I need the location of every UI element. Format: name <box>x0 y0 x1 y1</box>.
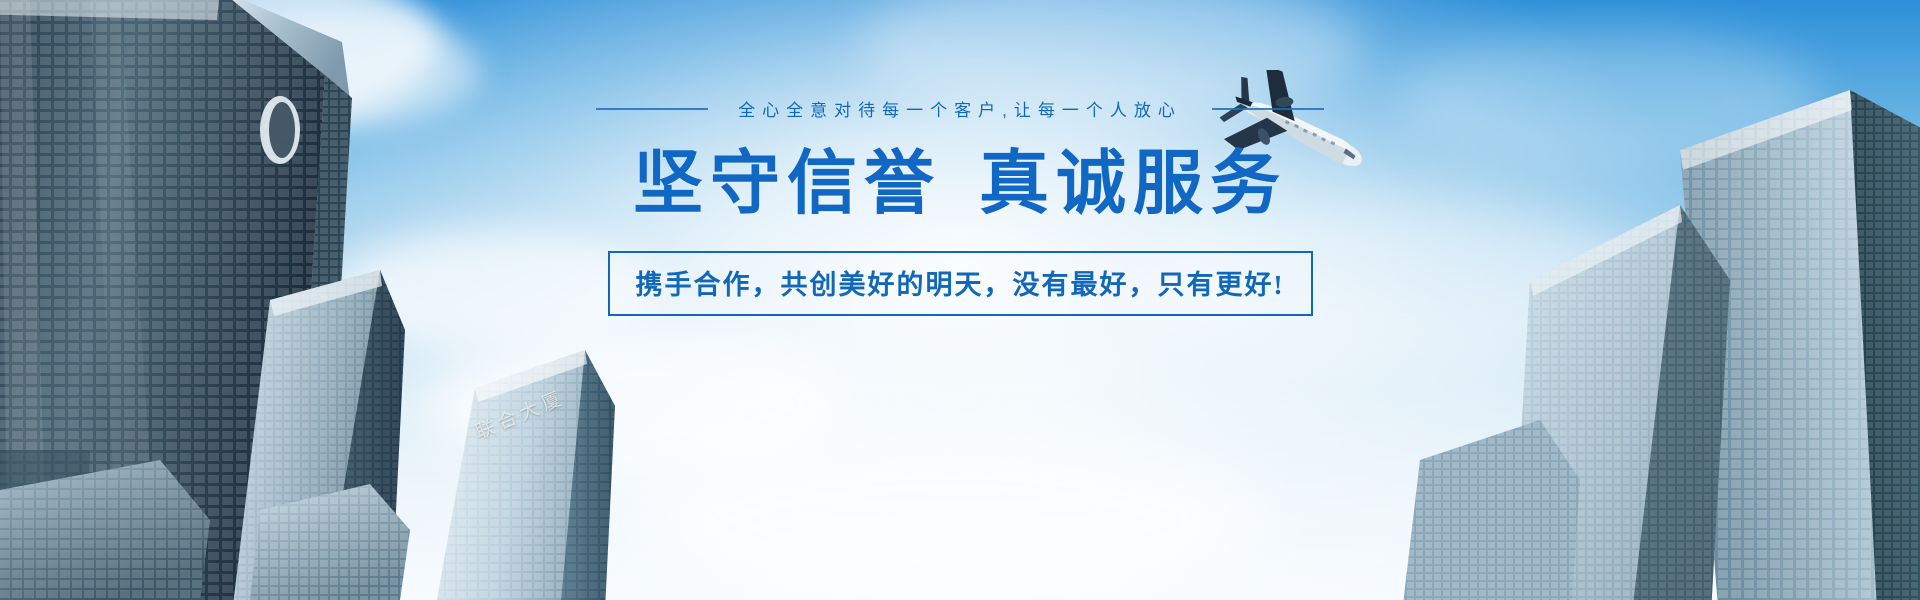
decorative-rule-right-icon <box>1212 108 1324 110</box>
cloud <box>640 430 1260 600</box>
headline-part-left: 坚守信誉 <box>633 146 941 223</box>
hero-banner: 联合大厦 <box>0 0 1920 600</box>
sky-glow <box>210 0 1710 600</box>
cloud <box>20 0 440 130</box>
cloud <box>1400 30 1820 170</box>
cloud <box>330 230 660 350</box>
banner-text-content: 全心全意对待每一个客户,让每一个人放心 坚守信誉真诚服务 携手合作，共创美好的明… <box>0 96 1920 316</box>
cloud <box>430 330 850 480</box>
headline-part-right: 真诚服务 <box>979 146 1287 223</box>
banner-tagline: 全心全意对待每一个客户,让每一个人放心 <box>738 96 1182 121</box>
building-right-skyscraper <box>1380 30 1920 600</box>
cloud <box>860 0 1360 120</box>
banner-headline: 坚守信誉真诚服务 <box>633 147 1287 223</box>
building-center-left <box>380 330 710 600</box>
building-left-skyscraper <box>0 0 490 600</box>
airplane-icon <box>1218 70 1368 200</box>
decorative-rule-left-icon <box>596 108 708 110</box>
banner-subtitle-box: 携手合作，共创美好的明天，没有最好，只有更好! <box>608 251 1313 316</box>
building-watermark-text: 联合大厦 <box>471 382 570 444</box>
building-foreground-mid <box>250 470 480 600</box>
cloud <box>1150 200 1650 370</box>
building-mid-left <box>230 270 590 600</box>
tagline-row: 全心全意对待每一个客户,让每一个人放心 <box>596 96 1324 121</box>
cloud <box>180 10 480 130</box>
building-foreground-left <box>0 430 300 600</box>
cloud <box>60 120 280 210</box>
banner-subtitle: 携手合作，共创美好的明天，没有最好，只有更好! <box>636 270 1285 300</box>
